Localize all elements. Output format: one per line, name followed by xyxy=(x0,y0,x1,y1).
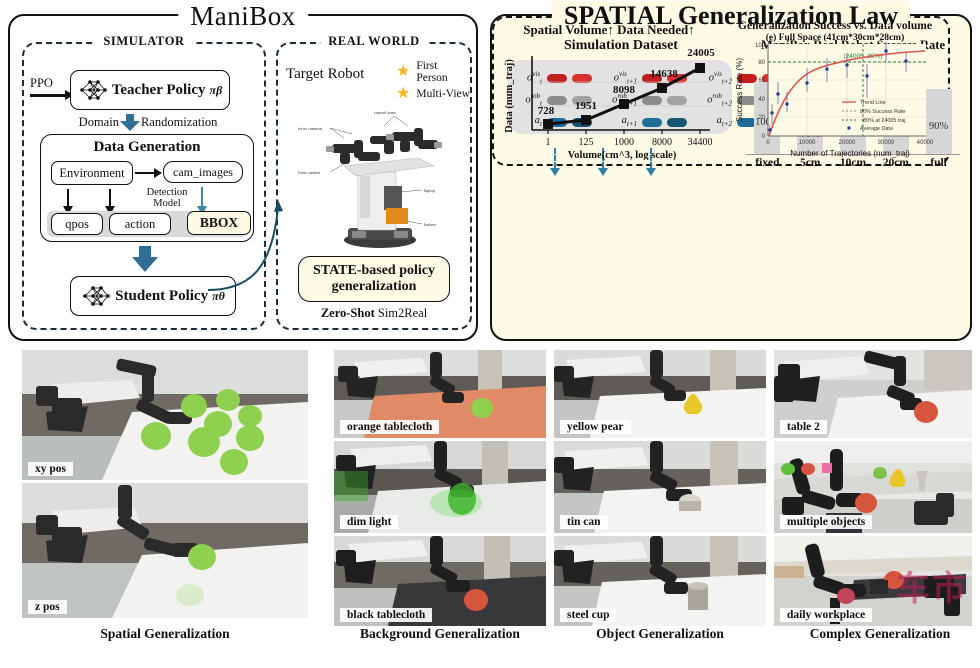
svg-text:14638: 14638 xyxy=(650,68,678,80)
photo-daily-workplace: daily workplace 车市 xyxy=(774,536,972,626)
photo-steel-cup: steel cup xyxy=(554,536,766,626)
bbox-box: BBOX xyxy=(187,211,251,235)
svg-text:30000: 30000 xyxy=(878,140,895,146)
svg-text:Data (num_traj): Data (num_traj) xyxy=(504,59,515,133)
simulator-title: SIMULATOR xyxy=(95,34,192,49)
cam-images-box: cam_images xyxy=(163,161,243,183)
svg-text:Success Rate (%): Success Rate (%) xyxy=(735,58,744,122)
student-policy-label: Student Policy xyxy=(115,288,208,305)
photo-dim-light: dim light xyxy=(334,441,546,533)
svg-text:Average Data: Average Data xyxy=(860,126,893,132)
svg-text:battery: battery xyxy=(424,222,437,227)
detection-model-label: Detection Model xyxy=(137,187,197,209)
svg-text:100: 100 xyxy=(755,43,766,49)
domain-label: Domain xyxy=(79,115,119,130)
generalization-success-scatter: Generalization Success vs. Data volume (… xyxy=(724,20,946,160)
photo-caption: z pos xyxy=(28,600,67,614)
svg-text:0: 0 xyxy=(766,140,770,146)
datagen-to-student-arrow xyxy=(132,246,158,272)
svg-text:Trend Line: Trend Line xyxy=(860,100,886,106)
photo-caption: orange tablecloth xyxy=(340,420,439,434)
svg-text:laptop: laptop xyxy=(424,188,436,193)
svg-text:24005: 24005 xyxy=(687,47,715,59)
environment-to-action-arrow xyxy=(109,189,111,207)
data-generation-title: Data Generation xyxy=(41,139,253,156)
svg-text:125: 125 xyxy=(579,137,594,148)
star-icon: ★ xyxy=(396,87,410,101)
generalization-law-box: Spatial Volume↑ Data Needed↑ xyxy=(492,16,950,166)
star-icon: ★ xyxy=(396,65,410,79)
svg-text:8098: 8098 xyxy=(613,84,636,96)
svg-text:40000: 40000 xyxy=(917,140,934,146)
svg-text:1000: 1000 xyxy=(614,137,634,148)
svg-text:1: 1 xyxy=(546,137,551,148)
neural-network-icon xyxy=(78,77,108,103)
zero-shot-label: Zero-Shot Sim2Real xyxy=(278,306,470,321)
svg-text:728: 728 xyxy=(538,105,555,117)
ppo-arrow xyxy=(30,94,66,97)
svg-text:10000: 10000 xyxy=(799,140,816,146)
photo-black-tablecloth: black tablecloth xyxy=(334,536,546,626)
photo-orange-tablecloth: orange tablecloth xyxy=(334,350,546,438)
svg-text:80% Success Rate: 80% Success Rate xyxy=(860,109,906,115)
photo-column-complex: table 2 xyxy=(774,350,980,626)
photo-table-2: table 2 xyxy=(774,350,972,438)
photo-caption: dim light xyxy=(340,515,398,529)
photo-caption: table 2 xyxy=(780,420,827,434)
target-robot-label: Target Robot xyxy=(286,66,364,83)
domain-randomization-row: Domain Randomization xyxy=(38,114,258,131)
state-policy-box: STATE-based policy generalization xyxy=(298,256,450,302)
spatial-law-panel: SPATIAL Generalization Law Simulation Da… xyxy=(490,14,972,341)
svg-text:40: 40 xyxy=(758,97,765,103)
action-box: action xyxy=(109,213,171,235)
svg-text:8000: 8000 xyxy=(652,137,672,148)
photo-multiple-objects: multiple objects xyxy=(774,441,972,533)
student-policy-box: Student Policy πθ xyxy=(70,276,236,316)
watermark: 车市 xyxy=(896,561,968,610)
photo-caption: daily workplace xyxy=(780,608,872,622)
randomization-label: Randomization xyxy=(141,115,217,130)
svg-text:34400: 34400 xyxy=(688,137,713,148)
photo-yellow-pear: yellow pear xyxy=(554,350,766,438)
svg-text:1951: 1951 xyxy=(575,100,597,112)
photo-caption: multiple objects xyxy=(780,515,872,529)
scatter-svg: (24005, 80%) xyxy=(724,20,946,160)
legend-multi-view: ★ Multi-View xyxy=(396,87,470,101)
photo-grid: xy pos xyxy=(8,350,972,662)
environment-box: Environment xyxy=(51,161,133,185)
teacher-policy-box: Teacher Policy πβ xyxy=(70,70,230,110)
figure-root: ManiBox SIMULATOR PPO xyxy=(0,0,980,668)
svg-text:front camera: front camera xyxy=(298,170,320,175)
legend-first-person: ★ First Person xyxy=(396,60,470,84)
svg-text:60: 60 xyxy=(758,78,765,84)
svg-text:0: 0 xyxy=(762,134,766,140)
real-world-section: REAL WORLD Target Robot ★ First Person ★… xyxy=(276,42,472,330)
neural-network-icon xyxy=(81,283,111,309)
scatter-annotation: (24005, 80%) xyxy=(843,53,882,60)
environment-to-cam-arrow xyxy=(135,172,155,174)
svg-text:~80% at 24005 traj: ~80% at 24005 traj xyxy=(860,118,905,124)
photo-tin-can: tin can xyxy=(554,441,766,533)
ppo-label: PPO xyxy=(30,76,53,91)
photo-caption: black tablecloth xyxy=(340,608,432,622)
manibox-title: ManiBox xyxy=(178,1,308,32)
photo-caption: yellow pear xyxy=(560,420,631,434)
photo-z-pos: z pos xyxy=(22,483,308,618)
svg-text:Number of Trajectories (num_tr: Number of Trajectories (num_traj) xyxy=(790,149,910,158)
down-arrow-icon xyxy=(120,114,140,131)
svg-text:80: 80 xyxy=(758,60,765,66)
environment-to-qpos-arrow xyxy=(67,189,69,207)
photo-caption: tin can xyxy=(560,515,608,529)
teacher-policy-symbol: πβ xyxy=(210,83,223,98)
svg-text:20: 20 xyxy=(758,115,765,121)
photo-column-object: yellow pear xyxy=(554,350,766,626)
data-generation-box: Data Generation Environment cam_images D… xyxy=(40,134,254,242)
svg-text:20000: 20000 xyxy=(839,140,856,146)
manibox-panel: ManiBox SIMULATOR PPO xyxy=(8,14,478,341)
qpos-box: qpos xyxy=(51,213,103,235)
photo-xy-pos: xy pos xyxy=(22,350,308,480)
view-legend: ★ First Person ★ Multi-View xyxy=(396,60,470,104)
student-policy-symbol: πθ xyxy=(212,289,225,304)
spatial-volume-line-chart: Spatial Volume↑ Data Needed↑ xyxy=(496,20,722,160)
photo-caption: xy pos xyxy=(28,462,73,476)
photo-column-spatial: xy pos xyxy=(22,350,308,618)
svg-text:control arms: control arms xyxy=(374,110,396,115)
detection-arrow xyxy=(201,187,203,207)
photo-caption: steel cup xyxy=(560,608,616,622)
real-world-title: REAL WORLD xyxy=(320,34,428,49)
svg-text:wrist cameras: wrist cameras xyxy=(298,126,323,131)
target-robot-illustration: wrist cameras control arms front camera … xyxy=(296,100,464,250)
simulator-section: SIMULATOR PPO xyxy=(22,42,266,330)
photo-column-background: orange tablecloth xyxy=(334,350,546,626)
svg-text:Volume(cm^3, log scale): Volume(cm^3, log scale) xyxy=(568,150,677,160)
teacher-policy-label: Teacher Policy xyxy=(112,82,206,99)
line-chart-svg: 72819518098 1463824005 11251000 80003440… xyxy=(496,20,722,160)
